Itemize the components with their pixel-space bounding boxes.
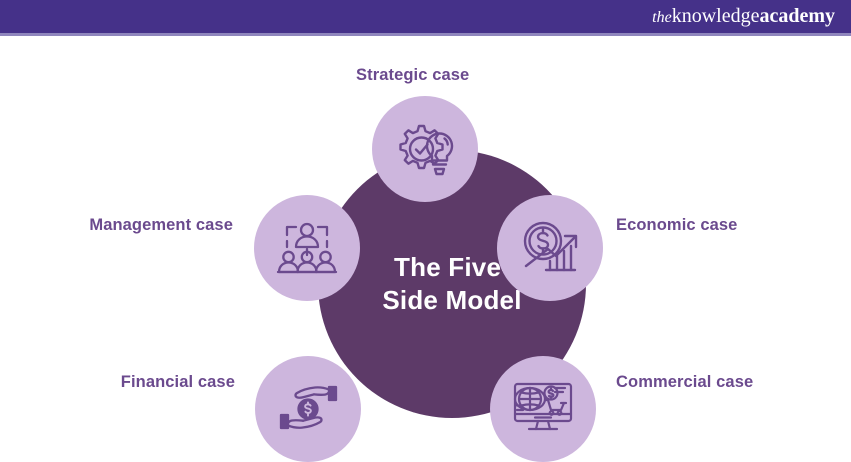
logo-word-academy: academy: [759, 5, 835, 27]
team-hierarchy-people-icon: [275, 219, 339, 277]
label-commercial-case: Commercial case: [616, 373, 753, 392]
node-economic-case[interactable]: [497, 195, 603, 301]
center-title-line-1: The Five-: [394, 252, 510, 282]
logo-word-the: the: [652, 9, 672, 26]
label-financial-case: Financial case: [121, 373, 235, 392]
label-management-case: Management case: [89, 216, 233, 235]
label-economic-case: Economic case: [616, 216, 737, 235]
five-case-model-diagram: The Five- Side Model Strategic case: [0, 36, 851, 451]
knowledge-academy-logo: theknowledgeacademy: [652, 6, 835, 28]
node-strategic-case[interactable]: [372, 96, 478, 202]
label-strategic-case: Strategic case: [356, 66, 469, 85]
center-title-line-2: Side Model: [382, 285, 521, 315]
node-commercial-case[interactable]: [490, 356, 596, 462]
brand-header-bar: theknowledgeacademy: [0, 0, 851, 33]
hands-holding-dollar-coin-icon: [276, 380, 340, 438]
dollar-coin-growth-chart-icon: [518, 218, 582, 278]
logo-word-knowledge: knowledge: [672, 5, 760, 27]
gear-checkmark-lightbulb-icon: [392, 120, 458, 178]
node-financial-case[interactable]: [255, 356, 361, 462]
node-management-case[interactable]: [254, 195, 360, 301]
monitor-globe-shopping-cart-icon: [511, 379, 575, 439]
